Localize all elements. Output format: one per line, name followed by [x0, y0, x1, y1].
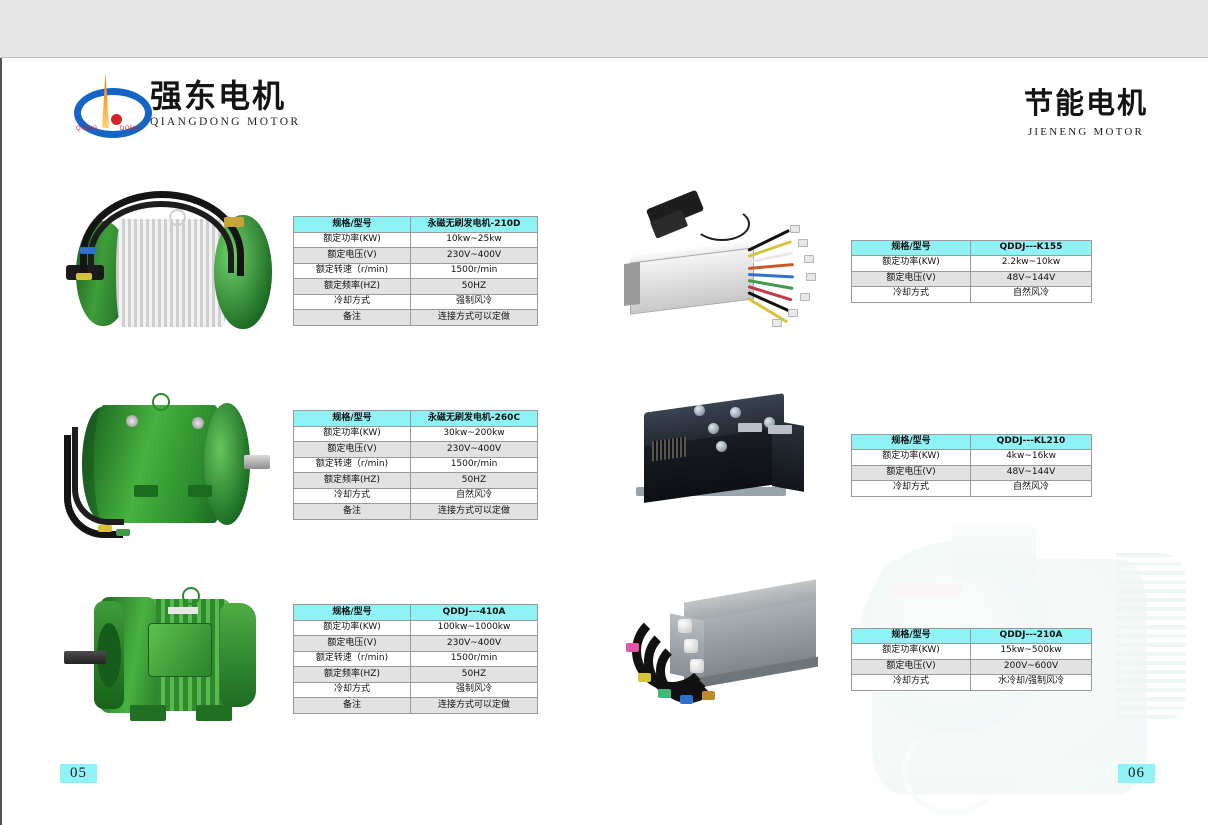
- spec-value: 48V~144V: [971, 271, 1092, 287]
- table-row: 额定功率(KW) 15kw~500kw: [852, 644, 1092, 660]
- spec-key: 冷却方式: [852, 675, 971, 691]
- spec-value: 50HZ: [411, 473, 538, 489]
- spec-value: 1500r/min: [411, 651, 538, 667]
- table-row: 额定电压(V) 48V~144V: [852, 271, 1092, 287]
- spec-key: 额定功率(KW): [294, 232, 411, 248]
- logo-pinyin-left: QIANG: [76, 126, 98, 132]
- product-entry: 规格/型号 QDDJ---K155 额定功率(KW) 2.2kw~10kw 额定…: [622, 176, 1142, 366]
- spec-key: 额定电压(V): [852, 271, 971, 287]
- spec-value: 48V~144V: [971, 465, 1092, 481]
- spec-key: 规格/型号: [852, 628, 971, 644]
- spec-key: 额定频率(HZ): [294, 473, 411, 489]
- spec-value: 15kw~500kw: [971, 644, 1092, 660]
- spec-key: 额定转速（r/min): [294, 457, 411, 473]
- spec-table: 规格/型号 QDDJ---210A 额定功率(KW) 15kw~500kw 额定…: [851, 628, 1092, 691]
- spec-key: 额定转速（r/min): [294, 263, 411, 279]
- spec-value: 30kw~200kw: [411, 426, 538, 442]
- spec-key: 备注: [294, 698, 411, 714]
- spec-value: 200V~600V: [971, 659, 1092, 675]
- logo-pinyin-right: DONG: [120, 126, 140, 132]
- spec-value: 230V~400V: [411, 248, 538, 264]
- spec-key: 额定频率(HZ): [294, 279, 411, 295]
- spec-value: 永磁无刷发电机-260C: [411, 411, 538, 427]
- spec-key: 额定电压(V): [294, 442, 411, 458]
- spec-value: 230V~400V: [411, 636, 538, 652]
- product-photo-controller-kl210: [622, 383, 837, 548]
- table-row: 冷却方式 自然风冷: [852, 287, 1092, 303]
- spec-key: 备注: [294, 310, 411, 326]
- spec-value: 连接方式可以定做: [411, 504, 538, 520]
- spec-key: 额定功率(KW): [294, 426, 411, 442]
- spec-key: 规格/型号: [294, 217, 411, 233]
- spec-key: 额定频率(HZ): [294, 667, 411, 683]
- table-row: 规格/型号 永磁无刷发电机-210D: [294, 217, 538, 233]
- table-row: 冷却方式 水冷却/强制风冷: [852, 675, 1092, 691]
- table-row: 额定电压(V) 230V~400V: [294, 442, 538, 458]
- viewer-top-bar: [0, 0, 1208, 58]
- table-row: 规格/型号 永磁无刷发电机-260C: [294, 411, 538, 427]
- product-photo-motor-410a: [64, 577, 279, 742]
- company-logo: QIANG DONG 强东电机 QIANGDONG MOTOR: [74, 76, 300, 132]
- spec-value: 4kw~16kw: [971, 450, 1092, 466]
- logo-mark-icon: QIANG DONG: [74, 76, 140, 132]
- table-row: 备注 连接方式可以定做: [294, 504, 538, 520]
- spec-value: QDDJ---410A: [411, 605, 538, 621]
- spec-value: QDDJ---210A: [971, 628, 1092, 644]
- spec-table: 规格/型号 QDDJ---410A 额定功率(KW) 100kw~1000kw …: [293, 604, 538, 714]
- table-row: 额定电压(V) 230V~400V: [294, 248, 538, 264]
- table-row: 额定功率(KW) 100kw~1000kw: [294, 620, 538, 636]
- spec-value: 2.2kw~10kw: [971, 256, 1092, 272]
- section-title-cn: 节能电机: [1024, 80, 1148, 122]
- spec-value: 水冷却/强制风冷: [971, 675, 1092, 691]
- product-photo-controller-k155: [622, 189, 837, 354]
- spec-key: 额定功率(KW): [852, 256, 971, 272]
- spec-value: 50HZ: [411, 667, 538, 683]
- spec-table: 规格/型号 QDDJ---KL210 额定功率(KW) 4kw~16kw 额定电…: [851, 434, 1092, 497]
- spec-value: 50HZ: [411, 279, 538, 295]
- spec-key: 额定电压(V): [852, 659, 971, 675]
- spec-key: 额定功率(KW): [294, 620, 411, 636]
- table-row: 额定功率(KW) 10kw~25kw: [294, 232, 538, 248]
- spec-value: 强制风冷: [411, 294, 538, 310]
- product-entry: 规格/型号 QDDJ---210A 额定功率(KW) 15kw~500kw 额定…: [622, 564, 1142, 754]
- spec-key: 额定电压(V): [294, 248, 411, 264]
- spec-key: 额定电压(V): [852, 465, 971, 481]
- table-row: 规格/型号 QDDJ---KL210: [852, 434, 1092, 450]
- spec-value: QDDJ---KL210: [971, 434, 1092, 450]
- table-row: 规格/型号 QDDJ---410A: [294, 605, 538, 621]
- spec-key: 冷却方式: [294, 294, 411, 310]
- spec-value: 100kw~1000kw: [411, 620, 538, 636]
- section-title: 节能电机 JIENENG MOTOR: [1024, 80, 1148, 138]
- page-number-right: 06: [1118, 764, 1155, 783]
- spec-key: 冷却方式: [852, 481, 971, 497]
- spec-value: 1500r/min: [411, 457, 538, 473]
- table-row: 冷却方式 强制风冷: [294, 682, 538, 698]
- right-page-column: 规格/型号 QDDJ---K155 额定功率(KW) 2.2kw~10kw 额定…: [622, 176, 1142, 758]
- table-row: 额定转速（r/min) 1500r/min: [294, 651, 538, 667]
- table-row: 额定功率(KW) 2.2kw~10kw: [852, 256, 1092, 272]
- table-row: 额定电压(V) 230V~400V: [294, 636, 538, 652]
- spec-key: 冷却方式: [294, 488, 411, 504]
- spec-value: 连接方式可以定做: [411, 698, 538, 714]
- spec-key: 额定功率(KW): [852, 644, 971, 660]
- spec-value: 强制风冷: [411, 682, 538, 698]
- spec-key: 备注: [294, 504, 411, 520]
- spec-key: 额定电压(V): [294, 636, 411, 652]
- spec-table: 规格/型号 永磁无刷发电机-260C 额定功率(KW) 30kw~200kw 额…: [293, 410, 538, 520]
- table-row: 冷却方式 自然风冷: [852, 481, 1092, 497]
- table-row: 备注 连接方式可以定做: [294, 698, 538, 714]
- table-row: 额定电压(V) 48V~144V: [852, 465, 1092, 481]
- table-row: 额定电压(V) 200V~600V: [852, 659, 1092, 675]
- spec-key: 规格/型号: [852, 240, 971, 256]
- table-row: 额定频率(HZ) 50HZ: [294, 473, 538, 489]
- product-entry: 规格/型号 永磁无刷发电机-210D 额定功率(KW) 10kw~25kw 额定…: [64, 176, 584, 366]
- spec-value: 自然风冷: [971, 287, 1092, 303]
- page-number-left: 05: [60, 764, 97, 783]
- table-row: 冷却方式 强制风冷: [294, 294, 538, 310]
- spec-table: 规格/型号 永磁无刷发电机-210D 额定功率(KW) 10kw~25kw 额定…: [293, 216, 538, 326]
- spec-key: 规格/型号: [294, 605, 411, 621]
- left-page-column: 规格/型号 永磁无刷发电机-210D 额定功率(KW) 10kw~25kw 额定…: [64, 176, 584, 758]
- table-row: 额定转速（r/min) 1500r/min: [294, 263, 538, 279]
- product-entry: 规格/型号 QDDJ---KL210 额定功率(KW) 4kw~16kw 额定电…: [622, 370, 1142, 560]
- spec-value: 连接方式可以定做: [411, 310, 538, 326]
- spec-key: 规格/型号: [294, 411, 411, 427]
- spec-key: 规格/型号: [852, 434, 971, 450]
- spec-value: 自然风冷: [971, 481, 1092, 497]
- table-row: 备注 连接方式可以定做: [294, 310, 538, 326]
- spec-key: 额定功率(KW): [852, 450, 971, 466]
- spec-value: 1500r/min: [411, 263, 538, 279]
- product-entry: 规格/型号 永磁无刷发电机-260C 额定功率(KW) 30kw~200kw 额…: [64, 370, 584, 560]
- table-row: 额定频率(HZ) 50HZ: [294, 279, 538, 295]
- company-name-cn: 强东电机: [150, 80, 300, 114]
- table-row: 规格/型号 QDDJ---210A: [852, 628, 1092, 644]
- spec-value: 自然风冷: [411, 488, 538, 504]
- catalog-page-sheet: QIANG DONG 强东电机 QIANGDONG MOTOR 节能电机 JIE…: [0, 58, 1208, 825]
- table-row: 额定功率(KW) 4kw~16kw: [852, 450, 1092, 466]
- product-photo-motor-260c: [64, 383, 279, 548]
- section-title-en: JIENENG MOTOR: [1024, 126, 1148, 138]
- spec-key: 冷却方式: [852, 287, 971, 303]
- spec-value: QDDJ---K155: [971, 240, 1092, 256]
- spec-key: 额定转速（r/min): [294, 651, 411, 667]
- spec-key: 冷却方式: [294, 682, 411, 698]
- company-name-en: QIANGDONG MOTOR: [150, 116, 300, 128]
- product-photo-motor-210d: [64, 189, 279, 354]
- table-row: 额定频率(HZ) 50HZ: [294, 667, 538, 683]
- table-row: 额定功率(KW) 30kw~200kw: [294, 426, 538, 442]
- product-entry: 规格/型号 QDDJ---410A 额定功率(KW) 100kw~1000kw …: [64, 564, 584, 754]
- spec-value: 10kw~25kw: [411, 232, 538, 248]
- spec-value: 230V~400V: [411, 442, 538, 458]
- spec-table: 规格/型号 QDDJ---K155 额定功率(KW) 2.2kw~10kw 额定…: [851, 240, 1092, 303]
- product-photo-controller-210a: [622, 577, 837, 742]
- table-row: 额定转速（r/min) 1500r/min: [294, 457, 538, 473]
- spec-value: 永磁无刷发电机-210D: [411, 217, 538, 233]
- table-row: 规格/型号 QDDJ---K155: [852, 240, 1092, 256]
- table-row: 冷却方式 自然风冷: [294, 488, 538, 504]
